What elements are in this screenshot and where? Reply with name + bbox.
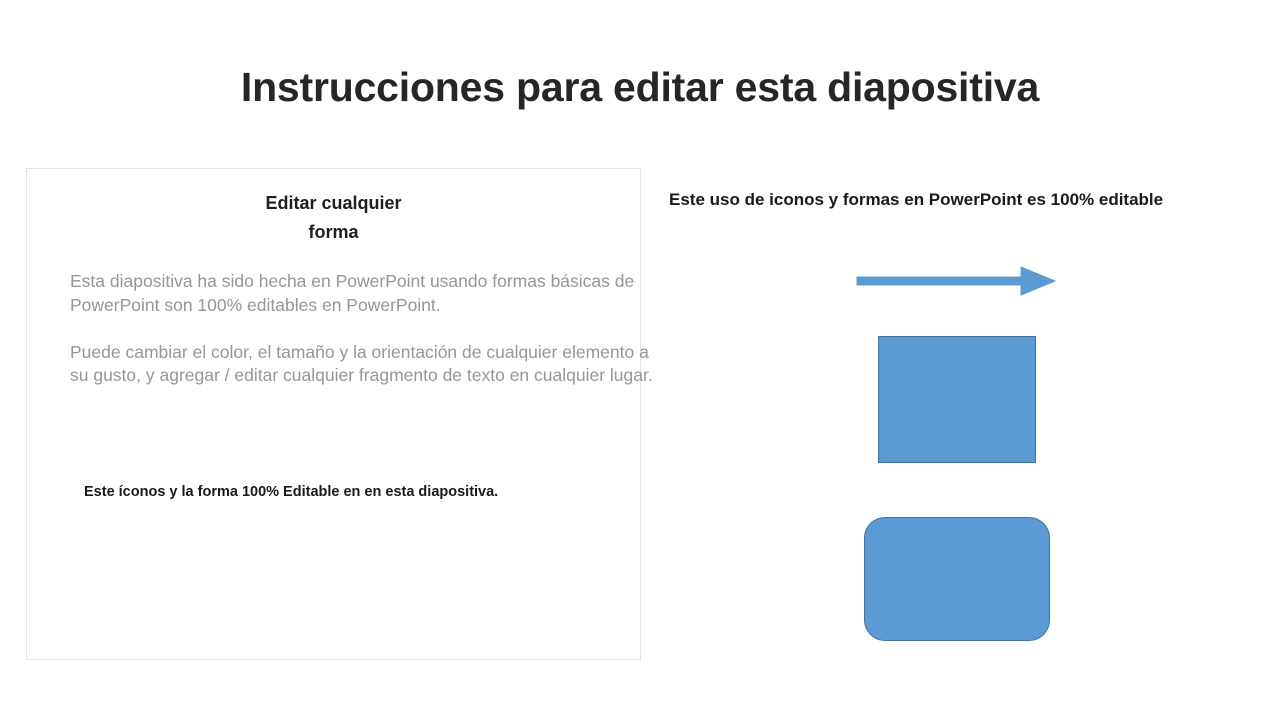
left-panel-heading: Editar cualquier forma [26, 189, 641, 247]
page-title: Instrucciones para editar esta diapositi… [0, 64, 1280, 111]
arrow-right-icon [855, 264, 1057, 298]
left-panel-heading-line-1: Editar cualquier [26, 189, 641, 218]
rounded-rectangle-shape [864, 517, 1050, 641]
left-panel-caption: Este íconos y la forma 100% Editable en … [84, 484, 498, 500]
body-paragraph-1: Esta diapositiva ha sido hecha en PowerP… [70, 270, 658, 317]
left-panel-body: Esta diapositiva ha sido hecha en PowerP… [70, 270, 658, 388]
arrow-right-polygon [857, 267, 1055, 295]
body-paragraph-2: Puede cambiar el color, el tamaño y la o… [70, 341, 658, 388]
rectangle-shape [878, 336, 1036, 463]
arrow-right-svg [855, 264, 1057, 298]
right-panel-heading: Este uso de iconos y formas en PowerPoin… [669, 190, 1163, 210]
left-panel-heading-line-2: forma [26, 218, 641, 247]
